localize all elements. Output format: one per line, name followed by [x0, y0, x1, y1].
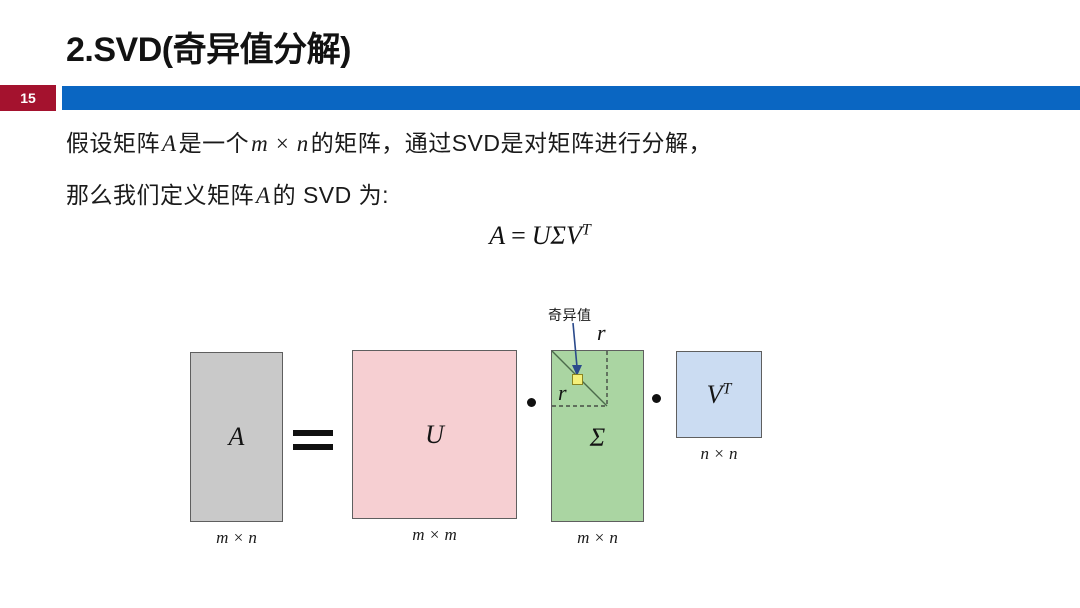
matrix-u-dimensions: m × m	[352, 525, 517, 545]
matrix-vt-symbol: V	[707, 380, 723, 409]
matrix-sigma-symbol: Σ	[552, 423, 643, 453]
matrix-vt-block: VT	[676, 351, 762, 438]
rank-label-left: r	[558, 380, 567, 406]
sigma-annotation-overlay	[0, 0, 1080, 608]
matrix-a-symbol: A	[229, 422, 245, 452]
svd-decomposition-diagram: A m × n U m × m Σ m × n VT n × n 奇异值 r r	[0, 0, 1080, 608]
equals-operator	[293, 428, 333, 454]
multiplication-dot-icon	[652, 394, 661, 403]
matrix-sigma-dimensions: m × n	[551, 528, 644, 548]
singular-value-annotation-label: 奇异值	[548, 305, 592, 325]
matrix-vt-transpose-superscript: T	[722, 380, 731, 397]
matrix-vt-dimensions: n × n	[676, 444, 762, 464]
singular-value-cell	[572, 374, 583, 385]
rank-label-top: r	[597, 320, 606, 346]
matrix-u-symbol: U	[425, 420, 444, 450]
matrix-a-block: A	[190, 352, 283, 522]
matrix-u-block: U	[352, 350, 517, 519]
multiplication-dot-icon	[527, 398, 536, 407]
equals-bar-bottom	[293, 444, 333, 450]
matrix-vt-symbol-wrap: VT	[707, 380, 732, 410]
equals-bar-top	[293, 430, 333, 436]
matrix-sigma-block: Σ	[551, 350, 644, 522]
matrix-a-dimensions: m × n	[190, 528, 283, 548]
